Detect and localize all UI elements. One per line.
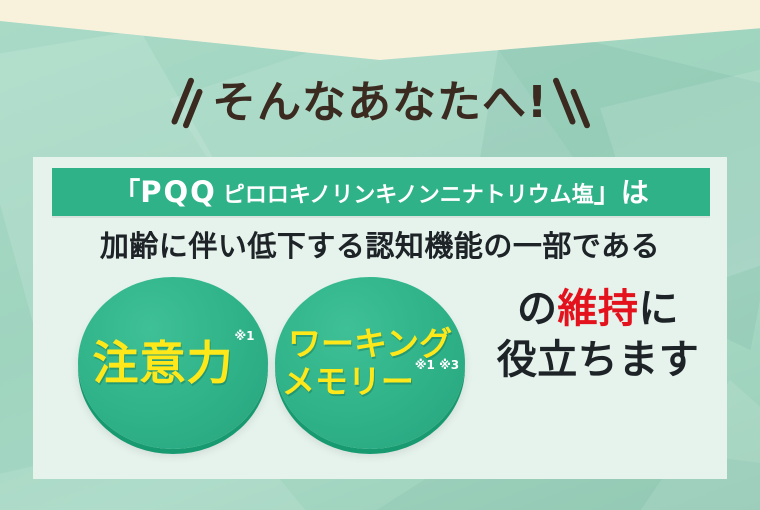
content-card: 「PQQピロロキノリンキノンニナトリウム塩」は 加齢に伴い低下する認知機能の一部… [33, 157, 727, 479]
right-slash-decoration-icon [562, 75, 581, 131]
chemical-name: ピロロキノリンキノンニナトリウム塩 [223, 185, 594, 207]
conclusion-suffix: に [639, 286, 680, 332]
benefit-text-working-memory-line1: ワーキング [288, 327, 452, 361]
subtitle-text: 加齢に伴い低下する認知機能の一部である [33, 223, 727, 265]
close-bracket: 」 [594, 180, 621, 207]
benefit-circle-attention: 注意力※1 [78, 277, 268, 449]
conclusion-line-1: の維持に [473, 287, 723, 332]
open-bracket: 「 [113, 180, 140, 207]
conclusion-prefix: の [517, 286, 558, 332]
conclusion-emphasis: 維持 [558, 286, 639, 332]
footnote-marker-attention: ※1 [234, 329, 254, 343]
benefits-area: 注意力※1 ワーキング メモリー※1 ※3 の維持に 役立ちます [33, 269, 727, 469]
benefit-label-attention: 注意力※1 [92, 340, 253, 387]
footnote-marker-working-memory: ※1 ※3 [415, 358, 459, 372]
benefit-text-working-memory-line2: メモリー [282, 362, 414, 401]
conclusion-text: の維持に 役立ちます [473, 287, 723, 383]
brand-name: PQQ [140, 178, 223, 207]
product-name-banner: 「PQQピロロキノリンキノンニナトリウム塩」は [52, 168, 710, 216]
benefit-label-working-memory-line2: メモリー※1 ※3 [282, 365, 458, 399]
left-slash-decoration-icon [179, 75, 198, 131]
benefit-text-attention: 注意力 [92, 336, 233, 390]
product-name-text: 「PQQピロロキノリンキノンニナトリウム塩」は [113, 178, 649, 207]
conclusion-line-2: 役立ちます [473, 338, 723, 383]
advertisement-banner: そんなあなたへ! 「PQQピロロキノリンキノンニナトリウム塩」は 加齢に伴い低下… [0, 0, 760, 510]
benefit-circle-working-memory: ワーキング メモリー※1 ※3 [275, 277, 465, 449]
headline-row: そんなあなたへ! [0, 72, 760, 134]
banner-particle: は [621, 179, 649, 207]
headline-text: そんなあなたへ! [212, 81, 548, 125]
